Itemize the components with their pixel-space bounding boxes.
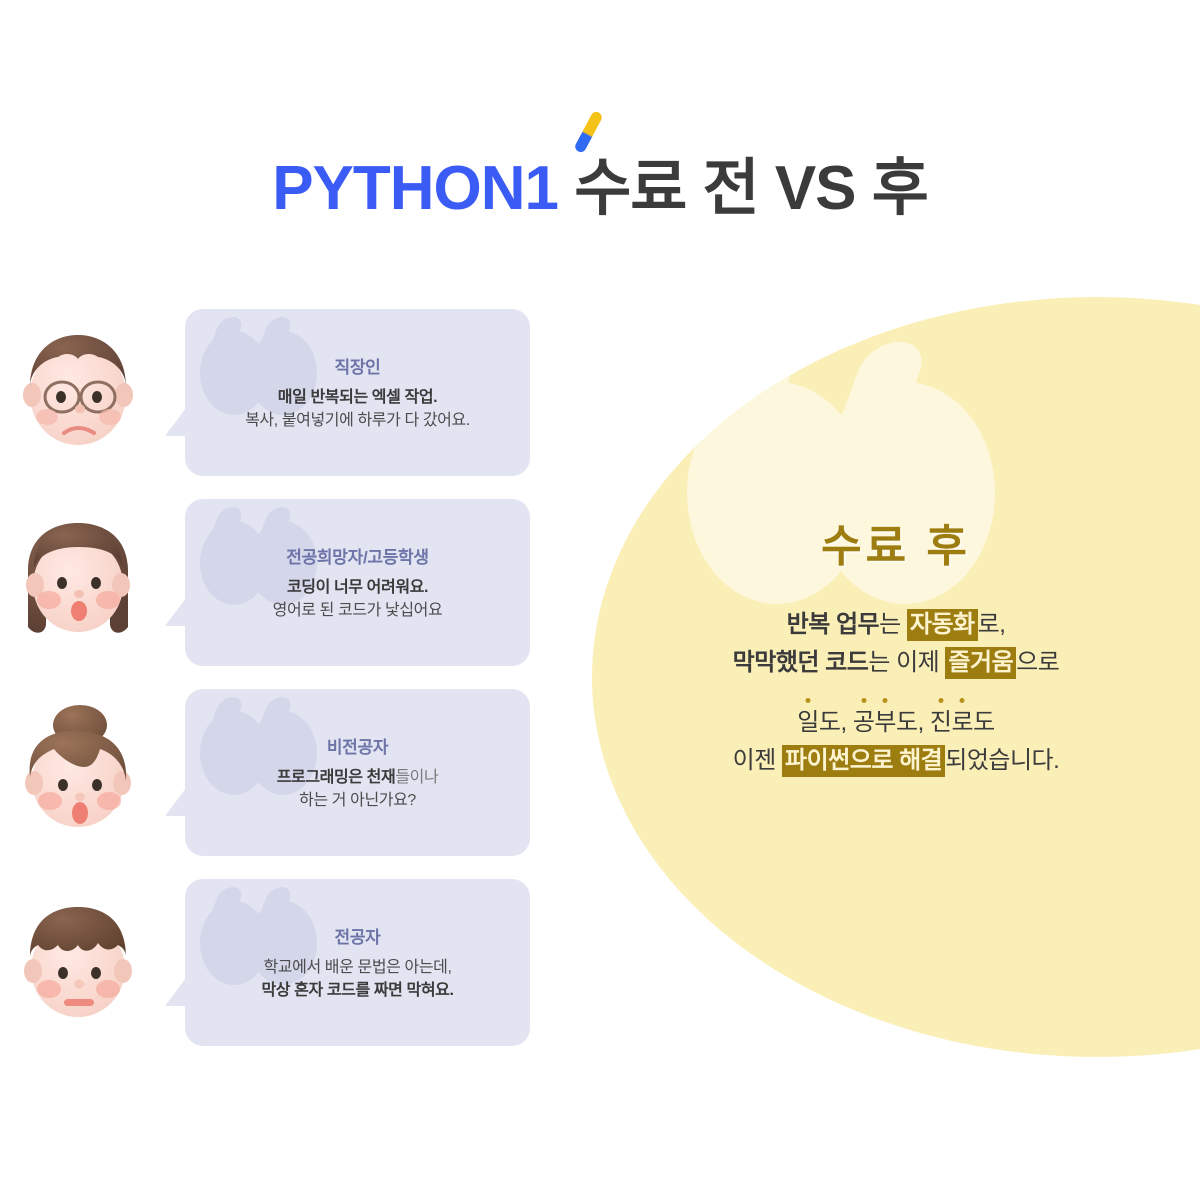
testimonial-bubble-2[interactable]: 전공희망자/고등학생 코딩이 너무 어려워요. 영어로 된 코드가 낯십어요 xyxy=(185,499,530,666)
after-heading: 수료 후 xyxy=(821,525,971,569)
page-title: PYTHON1 수료 전 VS 후 xyxy=(0,158,1200,220)
testimonial-line-2: 막상 혼자 코드를 짜면 막혀요. xyxy=(261,979,453,1002)
testimonial-line-1: 프로그래밍은 천재들이나 xyxy=(277,766,439,789)
infographic-page: PYTHON1 수료 전 VS 후 수료 후 반복 업무는 자동화로, 막막했던… xyxy=(0,0,1200,1177)
highlight-automation: 자동화 xyxy=(907,609,978,641)
python-slash-accent-icon xyxy=(573,110,603,154)
testimonial-line-1: 학교에서 배운 문법은 아는데, xyxy=(263,956,451,979)
after-panel-content: 수료 후 반복 업무는 자동화로, 막막했던 코드는 이제 즐거움으로 일도, … xyxy=(592,297,1200,1057)
after-line-2: 막막했던 코드는 이제 즐거움으로 xyxy=(733,651,1060,675)
dotted-emphasis-text: 일도, 공부도, 진로도 xyxy=(797,711,994,735)
testimonial-bubble-3[interactable]: 비전공자 프로그래밍은 천재들이나 하는 거 아닌가요? xyxy=(185,689,530,856)
testimonial-line-2: 영어로 된 코드가 낯십어요 xyxy=(273,599,443,622)
testimonial-bubble-4[interactable]: 전공자 학교에서 배운 문법은 아는데, 막상 혼자 코드를 짜면 막혀요. xyxy=(185,879,530,1046)
after-line-4: 이젠 파이썬으로 해결되었습니다. xyxy=(733,749,1060,773)
testimonial-role: 전공희망자/고등학생 xyxy=(286,543,428,568)
after-line-1: 반복 업무는 자동화로, xyxy=(787,613,1006,637)
title-text: PYTHON1 수료 전 VS 후 xyxy=(272,154,928,223)
student-girl-face-icon xyxy=(14,515,142,643)
title-brand: PYTHON1 xyxy=(272,154,558,223)
testimonial-line-2: 복사, 붙여넣기에 하루가 다 갔어요. xyxy=(245,409,470,432)
testimonial-role: 전공자 xyxy=(334,923,380,948)
testimonial-line-2: 하는 거 아닌가요? xyxy=(299,789,416,812)
highlight-fun: 즐거움 xyxy=(945,647,1016,679)
testimonial-bubble-1[interactable]: 직장인 매일 반복되는 엑셀 작업. 복사, 붙여넣기에 하루가 다 갔어요. xyxy=(185,309,530,476)
office-worker-face-icon xyxy=(14,325,142,453)
after-line-3: 일도, 공부도, 진로도 xyxy=(797,711,994,735)
testimonial-line-1: 매일 반복되는 엑셀 작업. xyxy=(278,386,437,409)
woman-bun-face-icon xyxy=(14,705,142,833)
title-rest: 수료 전 VS 후 xyxy=(558,154,928,223)
highlight-python-solve: 파이썬으로 해결 xyxy=(782,745,945,777)
testimonial-line-1: 코딩이 너무 어려워요. xyxy=(287,576,428,599)
boy-face-icon xyxy=(14,895,142,1023)
testimonial-role: 비전공자 xyxy=(327,733,388,758)
testimonial-role: 직장인 xyxy=(334,353,380,378)
